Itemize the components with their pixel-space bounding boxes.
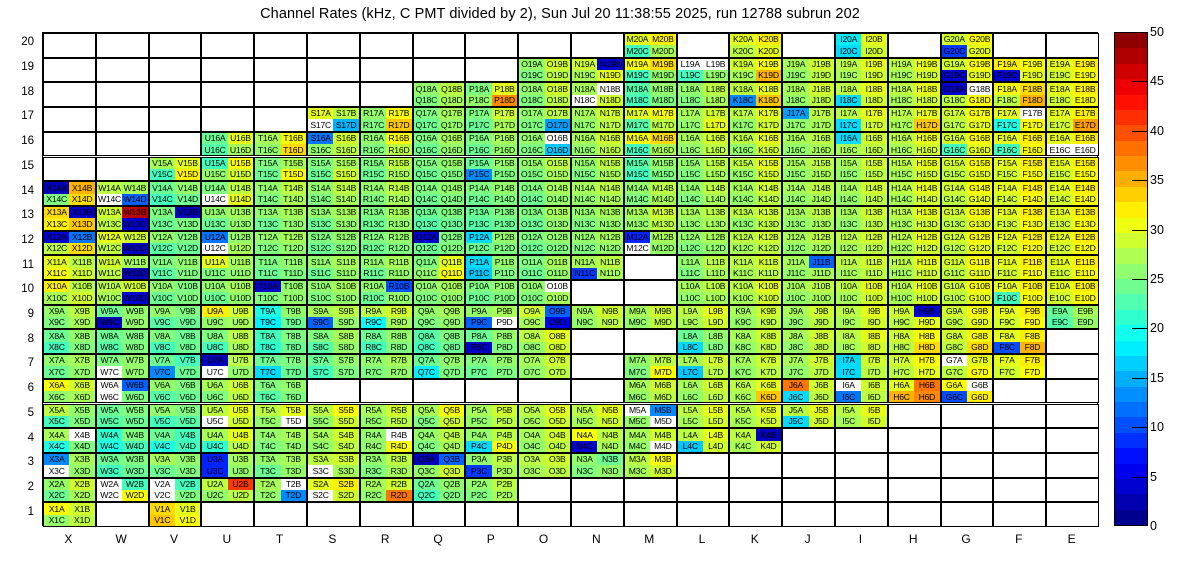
channel-r5b: R5B: [386, 405, 411, 416]
heatmap-cell-n13: N13AN13BN13CN13D: [571, 206, 624, 231]
channel-x1b: X1B: [69, 503, 94, 514]
channel-o14b: O14B: [545, 182, 570, 193]
channel-e19a: E19A: [1047, 59, 1072, 70]
channel-t8b: T8B: [281, 330, 306, 341]
channel-l12d: L12D: [703, 243, 728, 254]
channel-t6a: T6A: [255, 380, 280, 391]
channel-f11c: F11C: [994, 268, 1019, 279]
x-tick-k: K: [728, 532, 782, 546]
channel-o12d: O12D: [545, 243, 570, 254]
channel-w9b: W9B: [122, 306, 147, 317]
channel-m20d: M20D: [650, 45, 675, 56]
channel-k11c: K11C: [730, 268, 755, 279]
channel-x13c: X13C: [44, 218, 69, 229]
channel-o5a: O5A: [519, 405, 544, 416]
heatmap-cell-empty: [835, 502, 888, 527]
heatmap-cell-i16: I16AI16BI16CI16D: [835, 132, 888, 157]
channel-m9d: M9D: [650, 317, 675, 328]
heatmap-cell-h19: H19AH19BH19CH19D: [888, 58, 941, 83]
channel-x3d: X3D: [69, 465, 94, 476]
channel-p3d: P3D: [492, 465, 517, 476]
channel-w14a: W14A: [97, 182, 122, 193]
channel-s10d: S10D: [333, 292, 358, 303]
channel-g12d: G12D: [967, 243, 992, 254]
channel-r15d: R15D: [386, 169, 411, 180]
heatmap-cell-n17: N17AN17BN17CN17D: [571, 107, 624, 132]
channel-x5d: X5D: [69, 416, 94, 427]
channel-q10b: Q10B: [439, 281, 464, 292]
channel-n12b: N12B: [597, 232, 622, 243]
channel-s12a: S12A: [308, 232, 333, 243]
channel-f7c: F7C: [994, 366, 1019, 377]
y-tick-4: 4: [0, 432, 34, 444]
heatmap-cell-q13: Q13AQ13BQ13CQ13D: [413, 206, 466, 231]
channel-x10c: X10C: [44, 292, 69, 303]
heatmap-cell-u3: U3AU3BU3CU3D: [201, 453, 254, 478]
channel-i10d: I10D: [861, 292, 886, 303]
heatmap-cell-x1: X1AX1BX1CX1D: [43, 502, 96, 527]
heatmap-cell-m20: M20AM20BM20CM20D: [624, 33, 677, 58]
heatmap-cell-r9: R9AR9BR9CR9D: [360, 305, 413, 330]
heatmap-cell-e19: E19AE19BE19CE19D: [1046, 58, 1099, 83]
heatmap-cell-empty: [43, 33, 96, 58]
channel-m15b: M15B: [650, 158, 675, 169]
channel-h8b: H8B: [914, 330, 939, 341]
channel-x8b: X8B: [69, 330, 94, 341]
channel-p8c: P8C: [466, 342, 491, 353]
heatmap-cell-m18: M18AM18BM18CM18D: [624, 82, 677, 107]
channel-g16c: G16C: [942, 144, 967, 155]
channel-j17d: J17D: [809, 119, 834, 130]
channel-t10d: T10D: [281, 292, 306, 303]
heatmap-cell-o16: O16AO16BO16CO16D: [518, 132, 571, 157]
heatmap-cell-v7: V7AV7BV7CV7D: [149, 354, 202, 379]
channel-v13d: V13D: [175, 218, 200, 229]
heatmap-cell-i5: I5AI5BI5CI5D: [835, 404, 888, 429]
channel-h6d: H6D: [914, 391, 939, 402]
channel-n15b: N15B: [597, 158, 622, 169]
channel-v3b: V3B: [175, 454, 200, 465]
channel-l9d: L9D: [703, 317, 728, 328]
heatmap-cell-x6: X6AX6BX6CX6D: [43, 379, 96, 404]
channel-n13d: N13D: [597, 218, 622, 229]
channel-j7a: J7A: [783, 355, 808, 366]
heatmap-cell-h13: H13AH13BH13CH13D: [888, 206, 941, 231]
heatmap-cell-i20: I20AI20BI20CI20D: [835, 33, 888, 58]
heatmap-cell-n12: N12AN12BN12CN12D: [571, 231, 624, 256]
channel-l6b: L6B: [703, 380, 728, 391]
heatmap-cell-empty: [993, 33, 1046, 58]
channel-o5b: O5B: [545, 405, 570, 416]
heatmap-cell-u6: U6AU6BU6CU6D: [201, 379, 254, 404]
channel-o3d: O3D: [545, 465, 570, 476]
channel-g17c: G17C: [942, 119, 967, 130]
heatmap-cell-s17: S17AS17BS17CS17D: [307, 107, 360, 132]
channel-v2a: V2A: [150, 479, 175, 490]
channel-j18b: J18B: [809, 83, 834, 94]
heatmap-cell-v6: V6AV6BV6CV6D: [149, 379, 202, 404]
heatmap-cell-j6: J6AJ6BJ6CJ6D: [782, 379, 835, 404]
channel-q13c: Q13C: [414, 218, 439, 229]
heatmap-cell-empty: [571, 280, 624, 305]
channel-u3c: U3C: [202, 465, 227, 476]
heatmap-cell-g18: G18AG18BG18CG18D: [941, 82, 994, 107]
channel-i19a: I19A: [836, 59, 861, 70]
channel-i11c: I11C: [836, 268, 861, 279]
heatmap-cell-i6: I6AI6BI6CI6D: [835, 379, 888, 404]
channel-r7b: R7B: [386, 355, 411, 366]
heatmap-cell-o4: O4AO4BO4CO4D: [518, 428, 571, 453]
channel-w9d: W9D: [122, 317, 147, 328]
channel-v5d: V5D: [175, 416, 200, 427]
channel-q7d: Q7D: [439, 366, 464, 377]
channel-u3d: U3D: [228, 465, 253, 476]
channel-e14b: E14B: [1073, 182, 1098, 193]
channel-v8c: V8C: [150, 342, 175, 353]
channel-q13b: Q13B: [439, 207, 464, 218]
channel-i6d: I6D: [861, 391, 886, 402]
heatmap-cell-o10: O10AO10BO10CO10D: [518, 280, 571, 305]
channel-i16c: I16C: [836, 144, 861, 155]
heatmap-cell-n16: N16AN16BN16CN16D: [571, 132, 624, 157]
channel-x6c: X6C: [44, 391, 69, 402]
heatmap-cell-s16: S16AS16BS16CS16D: [307, 132, 360, 157]
channel-r7c: R7C: [361, 366, 386, 377]
channel-k18b: K18B: [756, 83, 781, 94]
colorbar-tick-line: [1132, 279, 1148, 280]
channel-h16b: H16B: [914, 133, 939, 144]
channel-s7a: S7A: [308, 355, 333, 366]
channel-p5c: P5C: [466, 416, 491, 427]
channel-q2c: Q2C: [414, 490, 439, 501]
channel-s15d: S15D: [333, 169, 358, 180]
channel-k15d: K15D: [756, 169, 781, 180]
channel-e14a: E14A: [1047, 182, 1072, 193]
channel-g15d: G15D: [967, 169, 992, 180]
channel-m6b: M6B: [650, 380, 675, 391]
heatmap-cell-x9: X9AX9BX9CX9D: [43, 305, 96, 330]
channel-t5b: T5B: [281, 405, 306, 416]
heatmap-cell-k16: K16AK16BK16CK16D: [729, 132, 782, 157]
channel-m14a: M14A: [625, 182, 650, 193]
channel-t12d: T12D: [281, 243, 306, 254]
heatmap-cell-o14: O14AO14BO14CO14D: [518, 181, 571, 206]
channel-k10d: K10D: [756, 292, 781, 303]
channel-e11b: E11B: [1073, 256, 1098, 267]
channel-n9a: N9A: [572, 306, 597, 317]
channel-t11b: T11B: [281, 256, 306, 267]
channel-m15c: M15C: [625, 169, 650, 180]
channel-i13d: I13D: [861, 218, 886, 229]
channel-q16b: Q16B: [439, 133, 464, 144]
channel-l12b: L12B: [703, 232, 728, 243]
channel-l13d: L13D: [703, 218, 728, 229]
channel-w4b: W4B: [122, 429, 147, 440]
heatmap-cell-empty: [96, 82, 149, 107]
channel-s8d: S8D: [333, 342, 358, 353]
heatmap-cell-u12: U12AU12BU12CU12D: [201, 231, 254, 256]
heatmap-cell-x4: X4AX4BX4CX4D: [43, 428, 96, 453]
heatmap-cell-h7: H7AH7BH7CH7D: [888, 354, 941, 379]
channel-f15b: F15B: [1020, 158, 1045, 169]
channel-f15c: F15C: [994, 169, 1019, 180]
channel-u13d: U13D: [228, 218, 253, 229]
channel-p13a: P13A: [466, 207, 491, 218]
channel-t15b: T15B: [281, 158, 306, 169]
channel-n16c: N16C: [572, 144, 597, 155]
heatmap-cell-x2: X2AX2BX2CX2D: [43, 478, 96, 503]
channel-j19b: J19B: [809, 59, 834, 70]
channel-f9d: F9D: [1020, 317, 1045, 328]
heatmap-cell-u15: U15AU15BU15CU15D: [201, 157, 254, 182]
y-tick-5: 5: [0, 407, 34, 419]
channel-w6c: W6C: [97, 391, 122, 402]
channel-l10b: L10B: [703, 281, 728, 292]
channel-u6d: U6D: [228, 391, 253, 402]
channel-t16c: T16C: [255, 144, 280, 155]
channel-x14c: X14C: [44, 194, 69, 205]
channel-s10c: S10C: [308, 292, 333, 303]
channel-v14b: V14B: [175, 182, 200, 193]
channel-l13a: L13A: [678, 207, 703, 218]
channel-t13c: T13C: [255, 218, 280, 229]
channel-x8d: X8D: [69, 342, 94, 353]
channel-x5b: X5B: [69, 405, 94, 416]
channel-h8d: H8D: [914, 342, 939, 353]
channel-t16d: T16D: [281, 144, 306, 155]
channel-w12c: W12C: [97, 243, 122, 254]
y-tick-11: 11: [0, 259, 34, 271]
channel-g6a: G6A: [942, 380, 967, 391]
channel-s12c: S12C: [308, 243, 333, 254]
channel-t2d: T2D: [281, 490, 306, 501]
channel-r12d: R12D: [386, 243, 411, 254]
heatmap-cell-o17: O17AO17BO17CO17D: [518, 107, 571, 132]
channel-i9a: I9A: [836, 306, 861, 317]
channel-l9c: L9C: [678, 317, 703, 328]
channel-h10b: H10B: [914, 281, 939, 292]
channel-s11c: S11C: [308, 268, 333, 279]
channel-i12d: I12D: [861, 243, 886, 254]
heatmap-cell-e13: E13AE13BE13CE13D: [1046, 206, 1099, 231]
channel-k16d: K16D: [756, 144, 781, 155]
channel-x1c: X1C: [44, 515, 69, 526]
channel-i5d: I5D: [861, 416, 886, 427]
channel-w5a: W5A: [97, 405, 122, 416]
channel-p14d: P14D: [492, 194, 517, 205]
heatmap-cell-empty: [1046, 453, 1099, 478]
channel-r17a: R17A: [361, 108, 386, 119]
heatmap-cell-m19: M19AM19BM19CM19D: [624, 58, 677, 83]
channel-s15a: S15A: [308, 158, 333, 169]
channel-i14d: I14D: [861, 194, 886, 205]
heatmap-cell-empty: [149, 58, 202, 83]
channel-w2d: W2D: [122, 490, 147, 501]
channel-w2c: W2C: [97, 490, 122, 501]
heatmap-cell-o7: O7AO7BO7CO7D: [518, 354, 571, 379]
channel-e19b: E19B: [1073, 59, 1098, 70]
channel-k14b: K14B: [756, 182, 781, 193]
channel-h12b: H12B: [914, 232, 939, 243]
channel-j7c: J7C: [783, 366, 808, 377]
channel-t8d: T8D: [281, 342, 306, 353]
channel-h13a: H13A: [889, 207, 914, 218]
channel-k16a: K16A: [730, 133, 755, 144]
channel-f14a: F14A: [994, 182, 1019, 193]
channel-r8a: R8A: [361, 330, 386, 341]
channel-i6c: I6C: [836, 391, 861, 402]
channel-k8d: K8D: [756, 342, 781, 353]
channel-n14b: N14B: [597, 182, 622, 193]
channel-i10c: I10C: [836, 292, 861, 303]
channel-l18d: L18D: [703, 95, 728, 106]
channel-p18c: P18C: [466, 95, 491, 106]
channel-v5c: V5C: [150, 416, 175, 427]
channel-k7c: K7C: [730, 366, 755, 377]
channel-m18d: M18D: [650, 95, 675, 106]
channel-i14a: I14A: [836, 182, 861, 193]
channel-g14b: G14B: [967, 182, 992, 193]
channel-n3c: N3C: [572, 465, 597, 476]
channel-p4d: P4D: [492, 441, 517, 452]
channel-t4c: T4C: [255, 441, 280, 452]
channel-f17c: F17C: [994, 119, 1019, 130]
channel-m4c: M4C: [625, 441, 650, 452]
heatmap-cell-m6: M6AM6BM6CM6D: [624, 379, 677, 404]
channel-w5d: W5D: [122, 416, 147, 427]
channel-q4c: Q4C: [414, 441, 439, 452]
channel-p15d: P15D: [492, 169, 517, 180]
channel-p9c: P9C: [466, 317, 491, 328]
channel-j17b: J17B: [809, 108, 834, 119]
colorbar-tick-line: [1132, 378, 1148, 379]
channel-v4b: V4B: [175, 429, 200, 440]
channel-s2c: S2C: [308, 490, 333, 501]
heatmap-cell-empty: [1046, 33, 1099, 58]
x-tick-p: P: [464, 532, 518, 546]
heatmap-cell-p15: P15AP15BP15CP15D: [465, 157, 518, 182]
heatmap-cell-m7: M7AM7BM7CM7D: [624, 354, 677, 379]
channel-m7d: M7D: [650, 366, 675, 377]
channel-h10a: H10A: [889, 281, 914, 292]
channel-t12c: T12C: [255, 243, 280, 254]
channel-r13c: R13C: [361, 218, 386, 229]
channel-w14b: W14B: [122, 182, 147, 193]
channel-l16c: L16C: [678, 144, 703, 155]
channel-j6a: J6A: [783, 380, 808, 391]
channel-e12c: E12C: [1047, 243, 1072, 254]
channel-l4c: L4C: [678, 441, 703, 452]
channel-o13a: O13A: [519, 207, 544, 218]
heatmap-cell-e11: E11AE11BE11CE11D: [1046, 255, 1099, 280]
channel-h6b: H6B: [914, 380, 939, 391]
channel-t4d: T4D: [281, 441, 306, 452]
channel-t3a: T3A: [255, 454, 280, 465]
channel-m14d: M14D: [650, 194, 675, 205]
channel-o11b: O11B: [545, 256, 570, 267]
channel-x2d: X2D: [69, 490, 94, 501]
channel-x6d: X6D: [69, 391, 94, 402]
heatmap-cell-v5: V5AV5BV5CV5D: [149, 404, 202, 429]
channel-j12c: J12C: [783, 243, 808, 254]
channel-j6b: J6B: [809, 380, 834, 391]
heatmap-cell-t2: T2AT2BT2CT2D: [254, 478, 307, 503]
channel-k7a: K7A: [730, 355, 755, 366]
channel-e14c: E14C: [1047, 194, 1072, 205]
channel-q3b: Q3B: [439, 454, 464, 465]
channel-v12a: V12A: [150, 232, 175, 243]
channel-g19c: G19C: [942, 70, 967, 81]
colorbar-tick-line: [1132, 81, 1148, 82]
channel-e11d: E11D: [1073, 268, 1098, 279]
channel-j19a: J19A: [783, 59, 808, 70]
channel-l14b: L14B: [703, 182, 728, 193]
channel-u11c: U11C: [202, 268, 227, 279]
channel-t9d: T9D: [281, 317, 306, 328]
channel-r7a: R7A: [361, 355, 386, 366]
channel-o11c: O11C: [519, 268, 544, 279]
channel-v15a: V15A: [150, 158, 175, 169]
heatmap-cell-g16: G16AG16BG16CG16D: [941, 132, 994, 157]
heatmap-cell-empty: [941, 478, 994, 503]
channel-f12c: F12C: [994, 243, 1019, 254]
channel-t2c: T2C: [255, 490, 280, 501]
heatmap-cell-u8: U8AU8BU8CU8D: [201, 329, 254, 354]
heatmap-cell-k8: K8AK8BK8CK8D: [729, 329, 782, 354]
channel-f12d: F12D: [1020, 243, 1045, 254]
channel-l11a: L11A: [678, 256, 703, 267]
channel-r3c: R3C: [361, 465, 386, 476]
heatmap-cell-w2: W2AW2BW2CW2D: [96, 478, 149, 503]
channel-m7c: M7C: [625, 366, 650, 377]
channel-j6d: J6D: [809, 391, 834, 402]
heatmap-cell-empty: [307, 82, 360, 107]
channel-o9c: O9C: [519, 317, 544, 328]
channel-g12b: G12B: [967, 232, 992, 243]
heatmap-cell-empty: [835, 453, 888, 478]
heatmap-cell-s7: S7AS7BS7CS7D: [307, 354, 360, 379]
channel-o13b: O13B: [545, 207, 570, 218]
heatmap-cell-r5: R5AR5BR5CR5D: [360, 404, 413, 429]
heatmap-cell-f15: F15AF15BF15CF15D: [993, 157, 1046, 182]
heatmap-cell-empty: [96, 157, 149, 182]
channel-l15d: L15D: [703, 169, 728, 180]
channel-x10d: X10D: [69, 292, 94, 303]
channel-t11a: T11A: [255, 256, 280, 267]
channel-k5c: K5C: [730, 416, 755, 427]
channel-g20c: G20C: [942, 45, 967, 56]
channel-k12c: K12C: [730, 243, 755, 254]
channel-g10d: G10D: [967, 292, 992, 303]
heatmap-cell-u11: U11AU11BU11CU11D: [201, 255, 254, 280]
channel-m17c: M17C: [625, 119, 650, 130]
channel-v15b: V15B: [175, 158, 200, 169]
channel-n11a: N11A: [572, 256, 597, 267]
channel-r9c: R9C: [361, 317, 386, 328]
channel-q9c: Q9C: [414, 317, 439, 328]
heatmap-cell-s13: S13AS13BS13CS13D: [307, 206, 360, 231]
channel-o17b: O17B: [545, 108, 570, 119]
channel-h18c: H18C: [889, 95, 914, 106]
heatmap-cell-w13: W13AW13BW13CW13D: [96, 206, 149, 231]
channel-q17b: Q17B: [439, 108, 464, 119]
heatmap-cell-i15: I15AI15BI15CI15D: [835, 157, 888, 182]
channel-g20a: G20A: [942, 34, 967, 45]
heatmap-cell-empty: [677, 478, 730, 503]
heatmap-cell-empty: [201, 107, 254, 132]
channel-w8c: W8C: [97, 342, 122, 353]
channel-w12a: W12A: [97, 232, 122, 243]
